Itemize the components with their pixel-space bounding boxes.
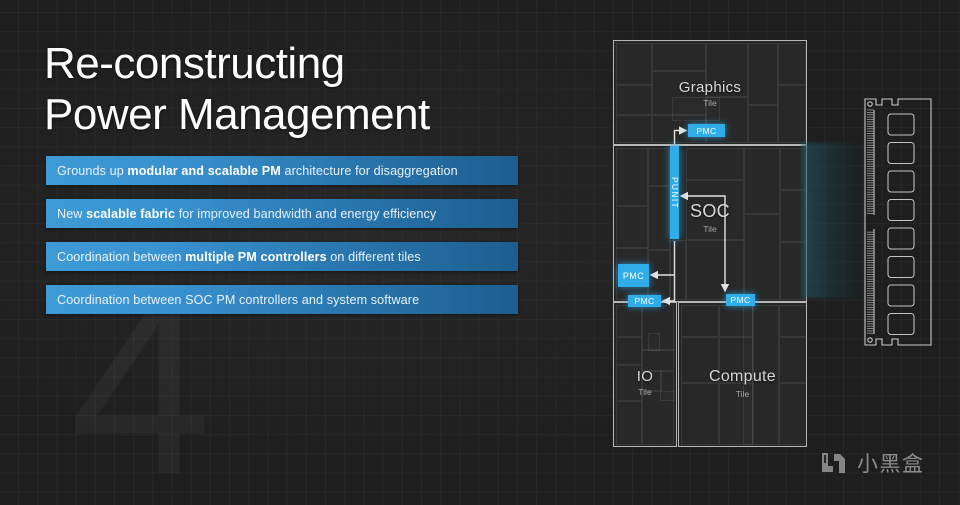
punit-badge: PUNIT [670, 146, 679, 239]
bullet-text-2: New scalable fabric for improved bandwid… [46, 207, 444, 221]
bullet-bar-1: Grounds up modular and scalable PM archi… [46, 156, 518, 185]
pmc-soc-badge: PMC [618, 264, 649, 287]
connector-wires [613, 40, 805, 445]
site-watermark: 小黑盒 [820, 448, 925, 478]
bullet-bar-4: Coordination between SOC PM controllers … [46, 285, 518, 314]
title-line-2: Power Management [44, 89, 430, 140]
bullet-list: Grounds up modular and scalable PM archi… [46, 156, 518, 328]
pmc-compute-badge: PMC [726, 294, 755, 306]
watermark-text: 小黑盒 [857, 448, 925, 478]
watermark-logo-icon [820, 449, 848, 477]
title-line-1: Re-constructing [44, 38, 430, 89]
bullet-text-1: Grounds up modular and scalable PM archi… [46, 164, 466, 178]
soc-tile-diagram: Graphics Tile SOC Tile IO Tile Compute T… [613, 40, 805, 445]
pmc-graphics-badge: PMC [688, 124, 725, 137]
punit-label: PUNIT [670, 176, 680, 208]
pmc-io-badge: PMC [628, 295, 661, 307]
page-title: Re-constructing Power Management [44, 38, 430, 141]
memory-link-glow [802, 143, 864, 298]
bullet-text-3: Coordination between multiple PM control… [46, 250, 429, 264]
bullet-text-4: Coordination between SOC PM controllers … [46, 293, 427, 307]
bullet-bar-3: Coordination between multiple PM control… [46, 242, 518, 271]
memory-module-dimm [862, 96, 934, 348]
slide-root: 4 Re-constructing Power Management Groun… [0, 0, 960, 505]
bullet-bar-2: New scalable fabric for improved bandwid… [46, 199, 518, 228]
